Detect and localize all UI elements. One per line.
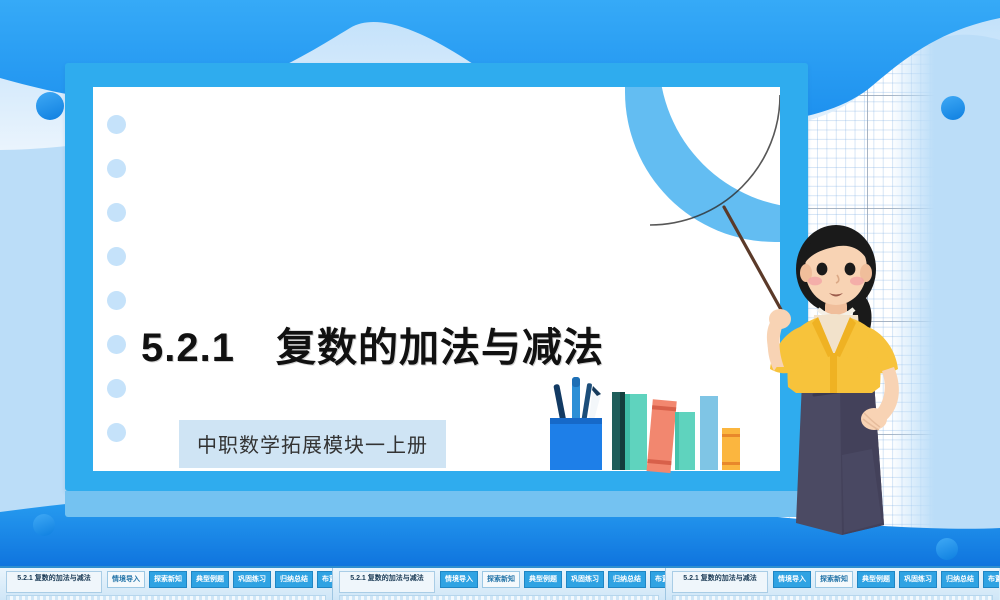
- tab-dianxing-liti[interactable]: 典型例题: [191, 571, 229, 588]
- thumbnail-title: 5.2.1 复数的加法与减法: [6, 571, 102, 593]
- thumbnail-tabs: 情境导入 探索新知 典型例题 巩固练习 归纳总结 布置作业: [773, 571, 999, 588]
- binding-hole: [107, 379, 126, 398]
- hand-left: [769, 309, 791, 329]
- tab-gonggu-lianxi[interactable]: 巩固练习: [233, 571, 271, 588]
- pencils-icon: [553, 377, 601, 425]
- thumbnail-content-preview: [6, 595, 326, 600]
- eye-left: [817, 263, 828, 276]
- tab-tansuo-xinzhi[interactable]: 探索新知: [482, 571, 520, 588]
- thumbnail-title: 5.2.1 复数的加法与减法: [672, 571, 768, 593]
- tab-buzhi-zuoye[interactable]: 布置作业: [983, 571, 999, 588]
- tab-dianxing-liti[interactable]: 典型例题: [857, 571, 895, 588]
- slide-canvas: 5.2.1 复数的加法与减法 中职数学拓展模块一上册: [0, 0, 1000, 600]
- tab-gonggu-lianxi[interactable]: 巩固练习: [566, 571, 604, 588]
- books-and-pencils-illustration: [532, 372, 742, 474]
- tab-guina-zongjie[interactable]: 归纳总结: [608, 571, 646, 588]
- binding-hole: [107, 203, 126, 222]
- thumbnail-tabs: 情境导入 探索新知 典型例题 巩固练习 归纳总结 布置作业: [107, 571, 333, 588]
- pointer-stick-icon: [724, 207, 784, 315]
- tab-buzhi-zuoye[interactable]: 布置作业: [317, 571, 333, 588]
- teacher-illustration: [722, 205, 950, 565]
- thumbnail-slide-2[interactable]: 5.2.1 复数的加法与减法 情境导入 探索新知 典型例题 巩固练习 归纳总结 …: [333, 568, 666, 600]
- eye-right: [845, 263, 856, 276]
- tab-guina-zongjie[interactable]: 归纳总结: [941, 571, 979, 588]
- binding-hole: [107, 115, 126, 134]
- thumbnail-tabs: 情境导入 探索新知 典型例题 巩固练习 归纳总结 布置作业: [440, 571, 666, 588]
- pencil-cup-icon: [550, 418, 602, 470]
- decorative-dot-bottom-left: [33, 514, 55, 536]
- book-spine: [647, 399, 677, 473]
- binding-hole: [107, 159, 126, 178]
- thumbnail-content-preview: [672, 595, 993, 600]
- subtitle-text: 中职数学拓展模块一上册: [197, 435, 428, 457]
- tab-qingjing-daoru[interactable]: 情境导入: [107, 571, 145, 588]
- binding-hole: [107, 291, 126, 310]
- page-title: 5.2.1 复数的加法与减法: [141, 315, 604, 373]
- binding-hole: [107, 423, 126, 442]
- tab-qingjing-daoru[interactable]: 情境导入: [440, 571, 478, 588]
- thumbnail-content-preview: [339, 595, 659, 600]
- tab-buzhi-zuoye[interactable]: 布置作业: [650, 571, 666, 588]
- thumbnail-slide-3[interactable]: 5.2.1 复数的加法与减法 情境导入 探索新知 典型例题 巩固练习 归纳总结 …: [666, 568, 999, 600]
- book-spine: [612, 392, 620, 470]
- binding-hole: [107, 247, 126, 266]
- tab-qingjing-daoru[interactable]: 情境导入: [773, 571, 811, 588]
- tab-guina-zongjie[interactable]: 归纳总结: [275, 571, 313, 588]
- book-spine: [700, 396, 718, 470]
- tab-dianxing-liti[interactable]: 典型例题: [524, 571, 562, 588]
- thumbnail-strip[interactable]: 5.2.1 复数的加法与减法 情境导入 探索新知 典型例题 巩固练习 归纳总结 …: [0, 566, 1000, 600]
- thumbnail-slide-1[interactable]: 5.2.1 复数的加法与减法 情境导入 探索新知 典型例题 巩固练习 归纳总结 …: [0, 568, 333, 600]
- tab-tansuo-xinzhi[interactable]: 探索新知: [815, 571, 853, 588]
- tab-tansuo-xinzhi[interactable]: 探索新知: [149, 571, 187, 588]
- binding-hole: [107, 335, 126, 354]
- subtitle-box: 中职数学拓展模块一上册: [179, 420, 446, 468]
- decorative-dot-top-left: [36, 92, 64, 120]
- thumbnail-title: 5.2.1 复数的加法与减法: [339, 571, 435, 593]
- tab-gonggu-lianxi[interactable]: 巩固练习: [899, 571, 937, 588]
- decorative-dot-top-right: [941, 96, 965, 120]
